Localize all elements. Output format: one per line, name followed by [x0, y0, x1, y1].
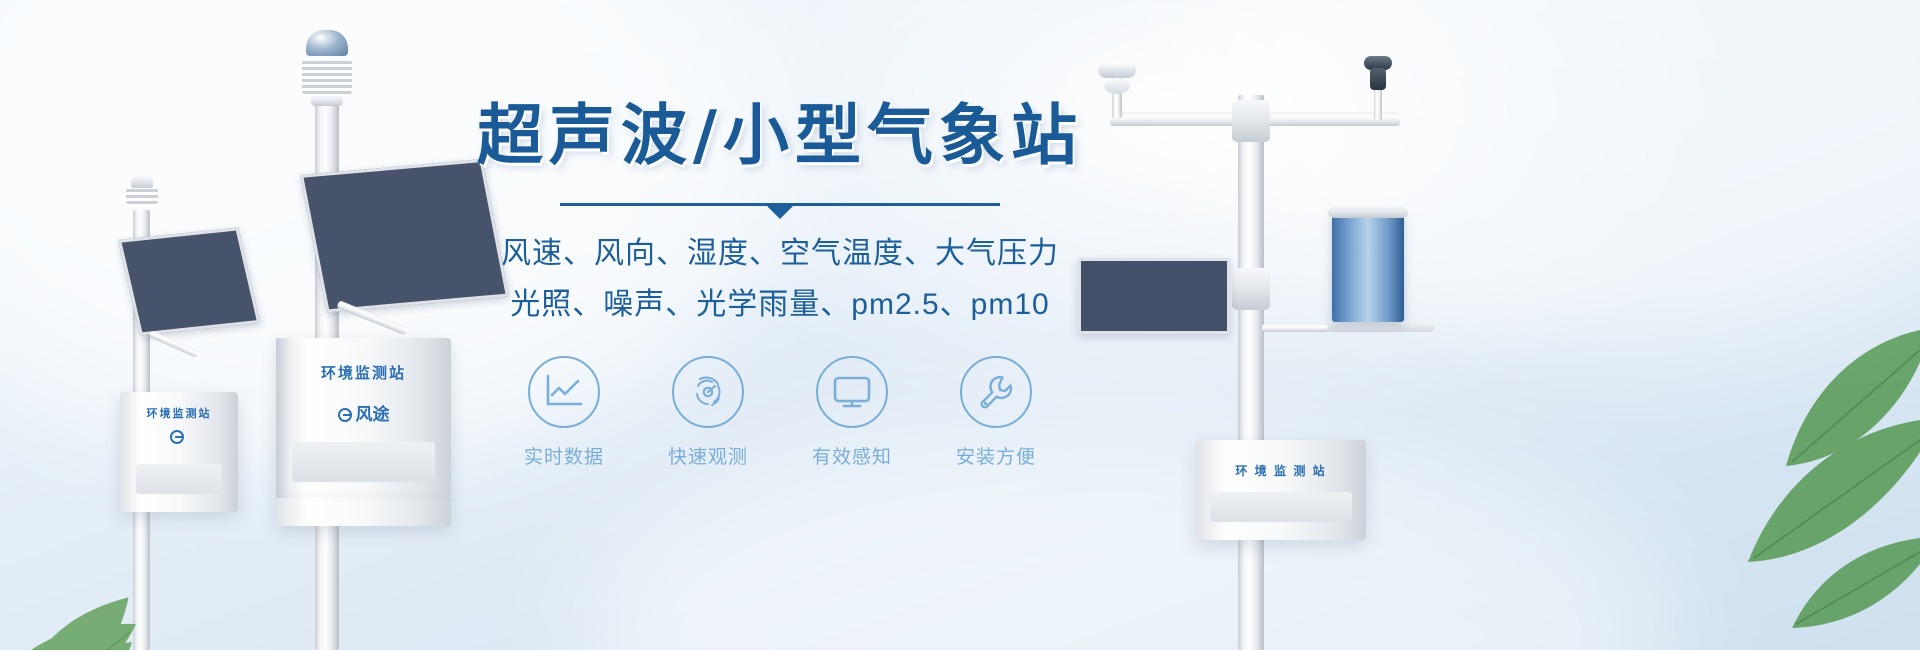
radiation-shield: [302, 58, 352, 96]
cabinet-edge-shadow: [276, 338, 290, 498]
instrument-shelf: [1322, 322, 1434, 332]
feature-item-easy-install[interactable]: 安装方便: [945, 356, 1047, 469]
arm-collar: [1232, 100, 1270, 142]
cabinet-vent: [292, 442, 435, 482]
feature-icon-circle: [816, 356, 888, 428]
rain-gauge: [1332, 212, 1404, 322]
anemometer-body: [1104, 78, 1130, 94]
wrench-icon: [976, 372, 1016, 412]
leaf-decoration-right: [1620, 270, 1920, 650]
feature-label: 安装方便: [945, 442, 1047, 469]
line-chart-icon: [544, 373, 584, 411]
brand-logo-icon: [338, 408, 352, 422]
leaf-decoration-left: [0, 410, 230, 650]
anemometer-top-plate: [1098, 62, 1136, 78]
cabinet-label: 环 境 监 测 站: [1196, 462, 1366, 479]
brand-mark: 风途: [276, 400, 451, 425]
solar-panel: [118, 227, 260, 335]
control-cabinet: 环 境 监 测 站: [1196, 440, 1366, 540]
feature-item-fast-observation[interactable]: 快速观测: [657, 356, 759, 469]
product-banner: 环境监测站 环境监测站 风途: [0, 0, 1920, 650]
feature-label: 快速观测: [657, 442, 759, 469]
sensor-collar: [311, 96, 343, 106]
feature-icon-circle: [960, 356, 1032, 428]
feature-icon-circle: [528, 356, 600, 428]
feature-list: 实时数据 快速观测: [440, 356, 1120, 469]
divider-triangle-icon: [767, 206, 793, 219]
ultrasonic-sensor: [306, 30, 348, 56]
cabinet-label: 环境监测站: [276, 362, 451, 383]
cabinet-base: [276, 498, 451, 526]
rain-gauge-rim: [1328, 206, 1408, 218]
mast-pole: [1238, 95, 1264, 650]
feature-item-effective-sensing[interactable]: 有效感知: [801, 356, 903, 469]
radar-signal-icon: [688, 372, 728, 412]
cabinet-vent: [1210, 492, 1352, 522]
subtitle-line-2: 光照、噪声、光学雨量、pm2.5、pm10: [440, 282, 1120, 329]
subtitle-line-1: 风速、风向、湿度、空气温度、大气压力: [440, 231, 1120, 278]
pole-collar: [1232, 268, 1270, 310]
shelf-arm: [1262, 324, 1328, 332]
monitor-icon: [832, 374, 872, 410]
brand-name: 风途: [356, 405, 390, 424]
sensor-head: [131, 176, 153, 188]
radiation-shield: [126, 186, 158, 206]
feature-item-realtime-data[interactable]: 实时数据: [513, 356, 615, 469]
page-title: 超声波/小型气象站: [440, 100, 1120, 171]
feature-icon-circle: [672, 356, 744, 428]
banner-content: 超声波/小型气象站 风速、风向、湿度、空气温度、大气压力 光照、噪声、光学雨量、…: [440, 100, 1120, 469]
vane-body: [1370, 68, 1386, 90]
control-cabinet: 环境监测站 风途: [276, 338, 451, 498]
panel-support-arm: [149, 330, 199, 358]
title-divider: [560, 201, 1000, 215]
feature-label: 有效感知: [801, 442, 903, 469]
feature-label: 实时数据: [513, 442, 615, 469]
